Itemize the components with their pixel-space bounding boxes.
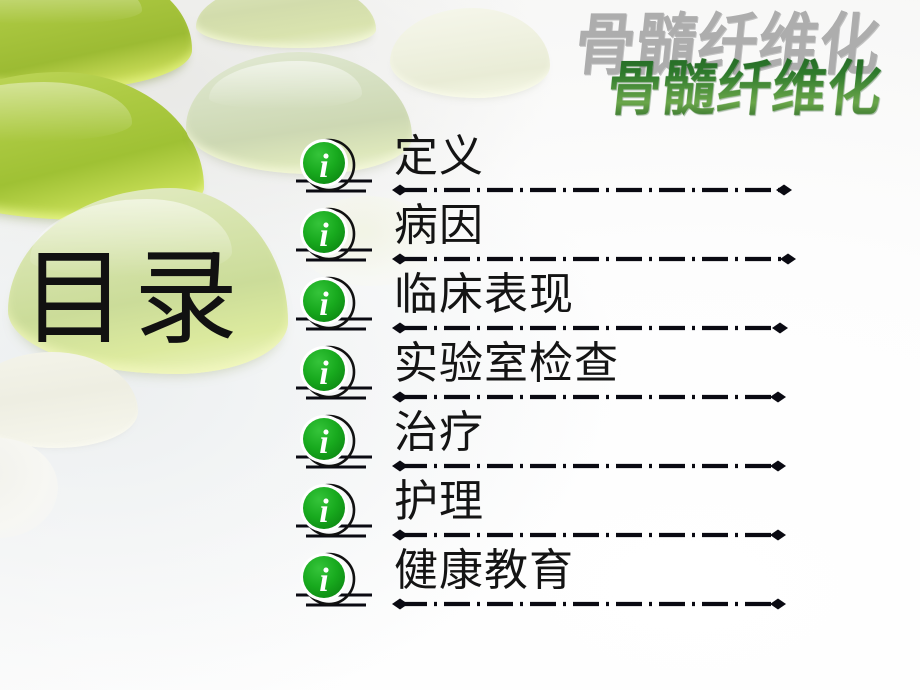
toc-item-label: 实验室检查 (394, 336, 619, 392)
toc-item-5[interactable]: i治疗 (296, 412, 916, 481)
toc-item-connector-line (392, 252, 796, 264)
decorative-pebble-olive-2 (0, 72, 204, 220)
decorative-pebble-olive-1 (0, 0, 192, 90)
toc-item-1[interactable]: i定义 (296, 136, 916, 205)
toc-item-connector-line (392, 321, 788, 333)
toc-item-connector-line (392, 528, 786, 540)
info-i-icon: i (296, 207, 378, 265)
info-i-icon: i (296, 276, 378, 334)
slide-title-main-text: 骨髓纤维化 (603, 40, 887, 127)
toc-item-3[interactable]: i临床表现 (296, 274, 916, 343)
decorative-pebble-white-lower (0, 352, 138, 448)
svg-text:i: i (319, 355, 329, 392)
slide-canvas: 骨髓纤维化 骨髓纤维化 目录 i定义i病因i临床表现i实验室检查i治疗i护理i健… (0, 0, 920, 690)
toc-item-connector-line (392, 597, 786, 609)
svg-text:i: i (319, 217, 329, 254)
toc-item-label: 健康教育 (394, 543, 574, 599)
toc-item-label: 治疗 (394, 405, 484, 461)
toc-item-label: 病因 (394, 198, 484, 254)
info-i-icon: i (296, 483, 378, 541)
toc-item-connector-line (392, 459, 786, 471)
slide-title: 骨髓纤维化 骨髓纤维化 (560, 2, 910, 128)
svg-text:i: i (319, 562, 329, 599)
info-i-icon: i (296, 138, 378, 196)
toc-item-4[interactable]: i实验室检查 (296, 343, 916, 412)
toc-item-label: 定义 (394, 129, 484, 185)
table-of-contents-list: i定义i病因i临床表现i实验室检查i治疗i护理i健康教育 (296, 136, 916, 619)
info-i-icon: i (296, 552, 378, 610)
info-i-icon: i (296, 414, 378, 472)
toc-item-6[interactable]: i护理 (296, 481, 916, 550)
decorative-pebble-pale-olive (196, 0, 376, 48)
svg-text:i: i (319, 286, 329, 323)
decorative-pebble-cream (390, 8, 550, 98)
svg-text:i: i (319, 148, 329, 185)
toc-item-2[interactable]: i病因 (296, 205, 916, 274)
decorative-pebble-ghost-lower (0, 438, 58, 538)
page-title: 目录 (22, 248, 246, 352)
info-i-icon: i (296, 345, 378, 403)
toc-item-connector-line (392, 390, 786, 402)
svg-text:i: i (319, 424, 329, 461)
svg-text:i: i (319, 493, 329, 530)
toc-item-label: 护理 (394, 474, 484, 530)
toc-item-connector-line (392, 183, 792, 195)
toc-item-7[interactable]: i健康教育 (296, 550, 916, 619)
toc-item-label: 临床表现 (394, 267, 574, 323)
